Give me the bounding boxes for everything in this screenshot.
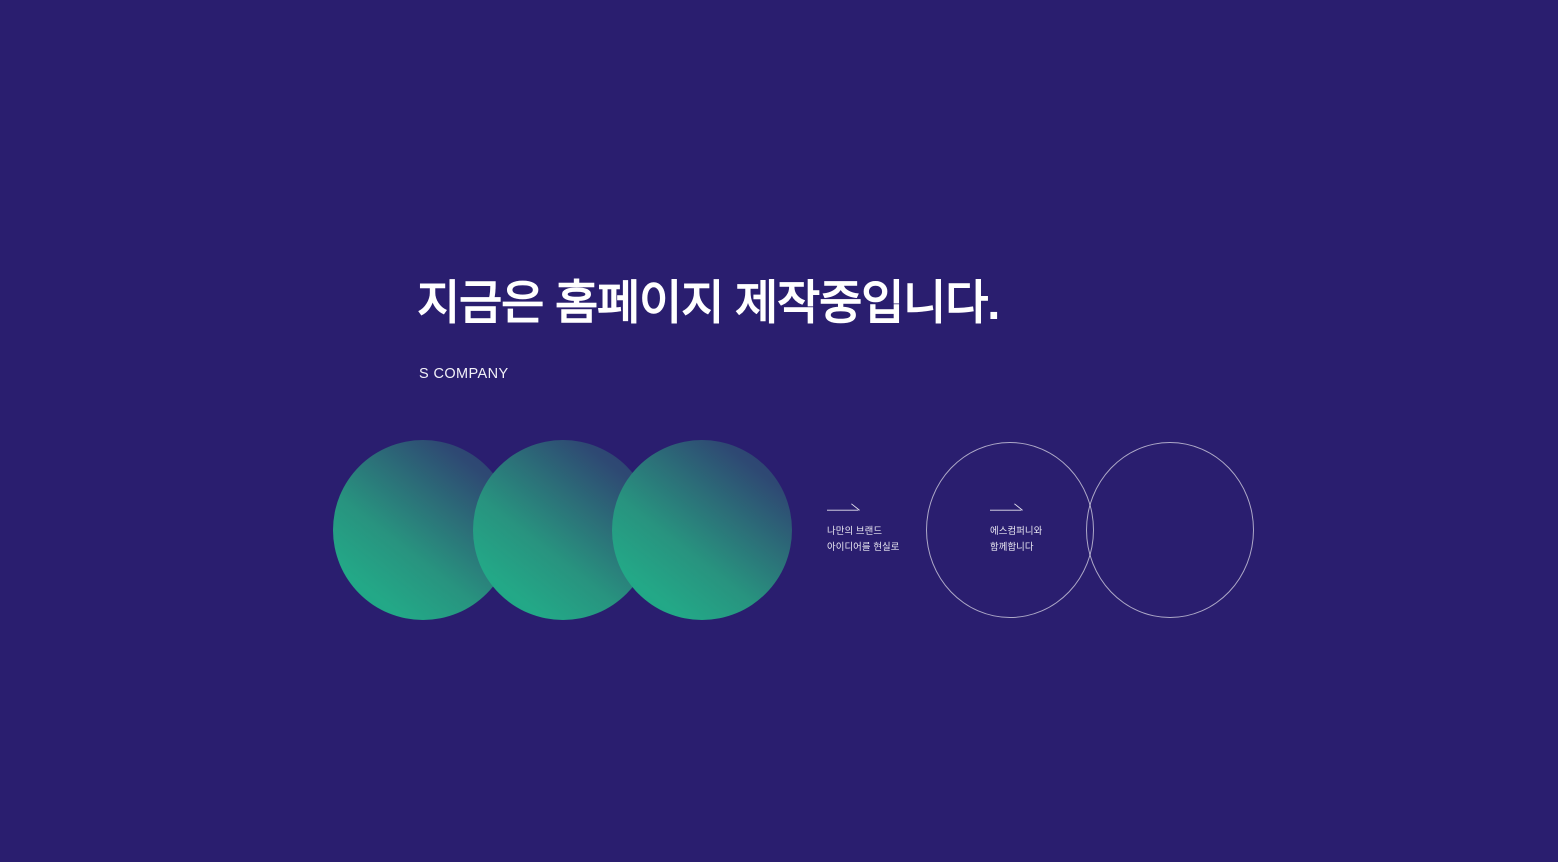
page-title: 지금은 홈페이지 제작중입니다. — [417, 277, 999, 330]
annotation-company: 에스컴퍼니와 함께합니다 — [990, 503, 1042, 554]
gradient-circle-1 — [333, 440, 513, 620]
page-root: 지금은 홈페이지 제작중입니다. S COMPANY 나만의 브랜드 아이디어를… — [0, 0, 1558, 862]
annotation-line-1: 에스컴퍼니와 — [990, 523, 1042, 539]
gradient-circle-2 — [473, 440, 653, 620]
company-name: S COMPANY — [419, 366, 509, 383]
annotation-line-1: 나만의 브랜드 — [827, 523, 900, 539]
annotation-line-2: 함께합니다 — [990, 539, 1042, 555]
gradient-circle-3 — [612, 440, 792, 620]
annotation-line-2: 아이디어를 현실로 — [827, 539, 900, 555]
hero-graphic — [0, 0, 1558, 862]
outline-circle-2 — [1086, 442, 1254, 618]
annotation-brand: 나만의 브랜드 아이디어를 현실로 — [827, 503, 900, 554]
arrow-right-icon — [990, 503, 1024, 515]
arrow-right-icon — [827, 503, 861, 515]
